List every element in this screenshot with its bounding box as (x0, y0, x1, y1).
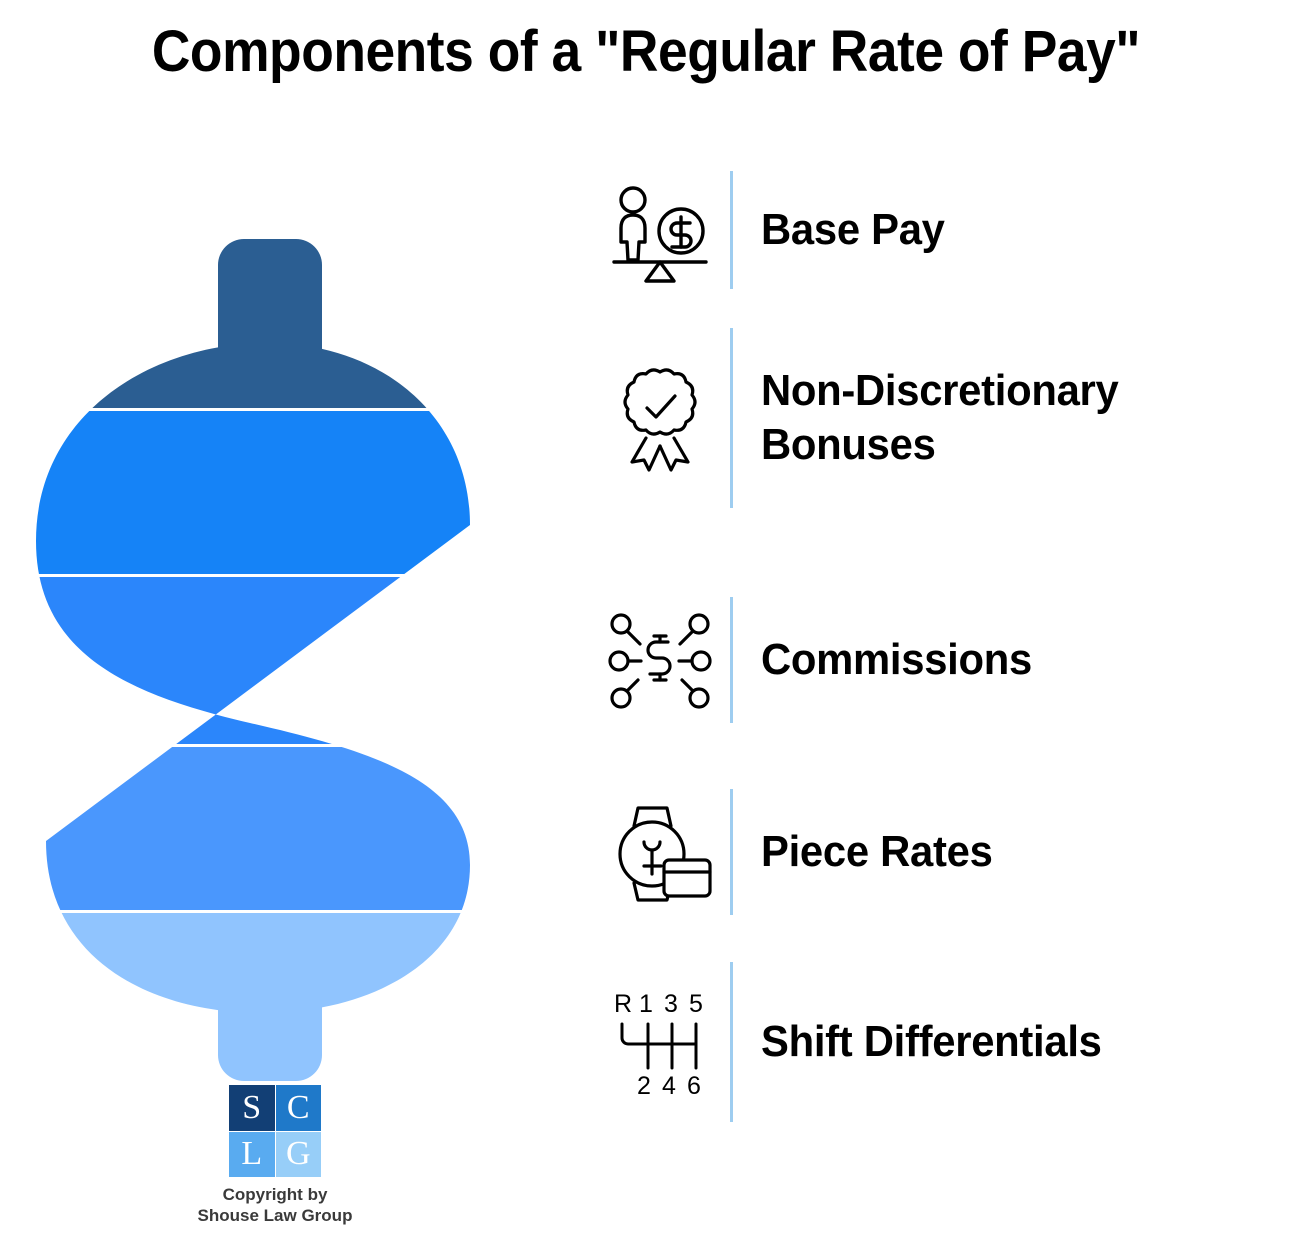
list-item-label: Non-Discretionary Bonuses (761, 364, 1118, 471)
list-item-label: Commissions (761, 635, 1032, 684)
copyright-line-2: Shouse Law Group (185, 1205, 365, 1226)
row-divider (730, 171, 733, 289)
award-ribbon-check-icon (600, 358, 720, 478)
dollar-band-2 (0, 411, 560, 574)
svg-text:5: 5 (689, 990, 703, 1018)
dollar-sign-graphic (0, 225, 560, 1095)
shouse-law-group-logo: S C L G Copyright by Shouse Law Group (185, 1085, 365, 1227)
row-divider (730, 789, 733, 915)
list-item-label: Piece Rates (761, 827, 993, 876)
dollar-band-5 (0, 913, 560, 1095)
logo-letter-c: C (276, 1085, 322, 1131)
row-divider (730, 962, 733, 1122)
row-divider (730, 328, 733, 508)
dollar-band-4 (0, 747, 560, 910)
list-item-label: Shift Differentials (761, 1017, 1102, 1066)
list-item-commissions: Commissions (600, 590, 1046, 730)
logo-letter-grid: S C L G (229, 1085, 321, 1177)
list-item-label: Base Pay (761, 205, 945, 254)
list-item-piece-rates: Piece Rates (600, 782, 1005, 922)
list-item-label-line-2: Bonuses (761, 418, 1118, 472)
row-divider (730, 597, 733, 723)
list-item-non-discretionary-bonuses: Non-Discretionary Bonuses (600, 348, 1137, 488)
infographic-page: Components of a "Regular Rate of Pay" (0, 0, 1292, 1237)
copyright-line-1: Copyright by (185, 1184, 365, 1205)
network-dollar-nodes-icon (600, 600, 720, 720)
copyright-text: Copyright by Shouse Law Group (185, 1184, 365, 1227)
dollar-band-1 (0, 225, 560, 408)
dollar-sign-bands (0, 225, 560, 1095)
dollar-band-3 (0, 577, 560, 744)
svg-text:3: 3 (664, 990, 678, 1018)
svg-text:R: R (614, 990, 632, 1018)
svg-text:4: 4 (662, 1072, 676, 1098)
balance-scale-person-dollar-icon (600, 170, 720, 290)
smartwatch-credit-card-icon (600, 792, 720, 912)
list-item-base-pay: Base Pay (600, 160, 954, 300)
svg-text:2: 2 (637, 1072, 651, 1098)
page-title: Components of a "Regular Rate of Pay" (52, 18, 1241, 85)
svg-text:1: 1 (639, 990, 653, 1018)
logo-letter-s: S (229, 1085, 275, 1131)
gear-shift-pattern-icon: R 1 3 5 2 4 6 (600, 982, 720, 1102)
logo-letter-g: G (276, 1132, 322, 1178)
svg-text:6: 6 (687, 1072, 701, 1098)
logo-letter-l: L (229, 1132, 275, 1178)
list-item-label-line-1: Non-Discretionary (761, 364, 1118, 418)
list-item-shift-differentials: R 1 3 5 2 4 6 Shift Differentials (600, 972, 1120, 1112)
